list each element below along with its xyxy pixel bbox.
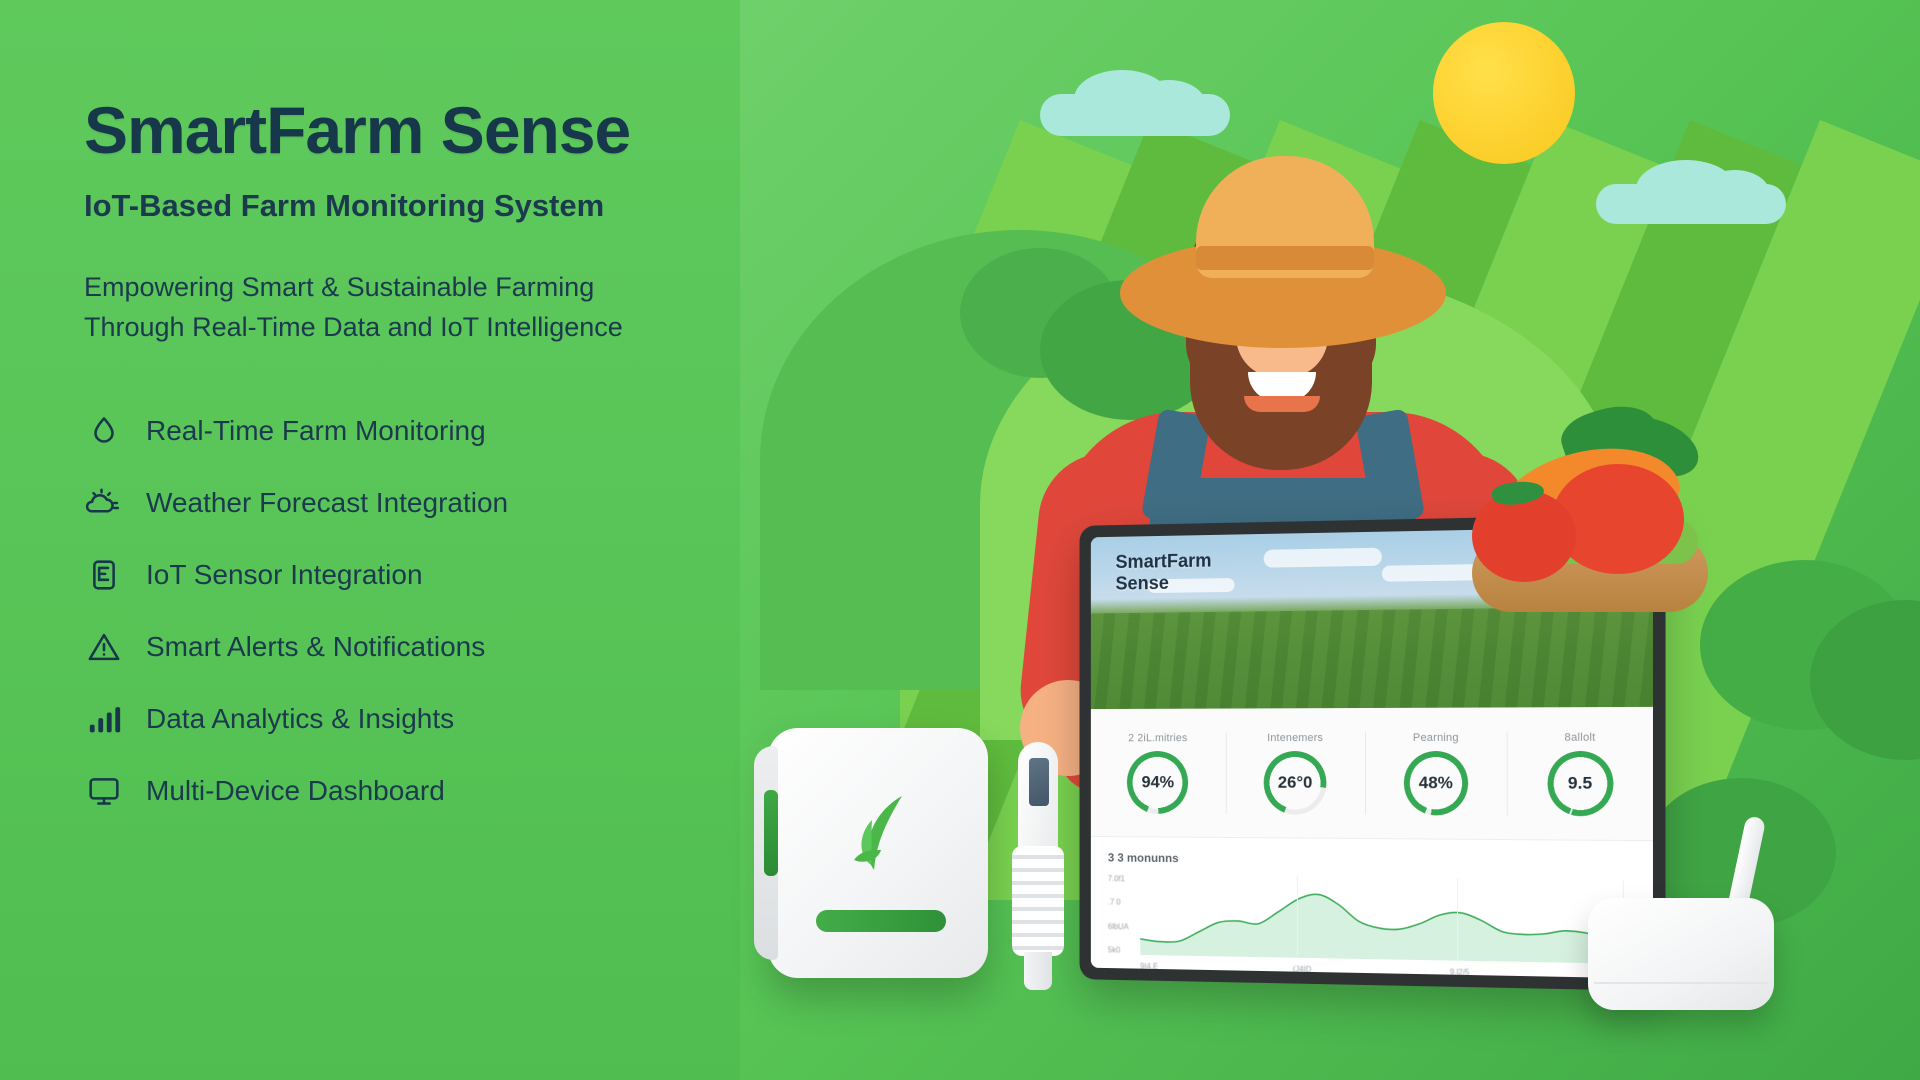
- feature-item-smart-alerts[interactable]: Smart Alerts & Notifications: [84, 611, 924, 683]
- trend-chart-panel[interactable]: 3 3 monunns 7.0f1 .7 0 6lbUA 5k0: [1091, 836, 1653, 979]
- feature-label: Smart Alerts & Notifications: [146, 631, 485, 663]
- sensor-chip-icon: [84, 555, 124, 595]
- chart-title: 3 3 monunns: [1108, 851, 1634, 870]
- metric-label: Pearning: [1413, 731, 1459, 743]
- y-tick: 6lbUA: [1108, 922, 1137, 931]
- metric-card[interactable]: 8allolt 9.5: [1508, 731, 1653, 816]
- page-subtitle: IoT-Based Farm Monitoring System: [84, 187, 924, 224]
- page-title: SmartFarm Sense: [84, 96, 924, 165]
- metric-ring: 94%: [1127, 751, 1188, 814]
- probe-display: [1029, 758, 1049, 806]
- feature-label: Data Analytics & Insights: [146, 703, 454, 735]
- warning-triangle-icon: [84, 627, 124, 667]
- tagline-line-2: Through Real-Time Data and IoT Intellige…: [84, 308, 924, 347]
- feature-label: Multi-Device Dashboard: [146, 775, 445, 807]
- y-tick: 5k0: [1108, 946, 1137, 955]
- metric-value: 48%: [1419, 773, 1453, 793]
- hero-copy: SmartFarm Sense IoT-Based Farm Monitorin…: [84, 96, 924, 827]
- feature-item-weather-forecast[interactable]: Weather Forecast Integration: [84, 467, 924, 539]
- y-tick: 7.0f1: [1108, 874, 1137, 883]
- chart-plot: [1140, 875, 1628, 964]
- metric-label: Intenemers: [1267, 732, 1323, 744]
- dashboard-brand-line-2: Sense: [1115, 572, 1211, 595]
- produce-group: [1430, 408, 1760, 658]
- metric-ring: 26°0: [1264, 751, 1327, 815]
- metric-row: 2 2iL.mitries 94% Intenemers 26°0: [1091, 707, 1653, 840]
- gateway-router-device[interactable]: [1588, 878, 1798, 1020]
- metric-value: 26°0: [1278, 772, 1312, 792]
- metric-label: 2 2iL.mitries: [1128, 732, 1187, 744]
- feature-item-iot-sensor[interactable]: IoT Sensor Integration: [84, 539, 924, 611]
- metric-card[interactable]: 2 2iL.mitries 94%: [1091, 732, 1227, 814]
- feature-label: Weather Forecast Integration: [146, 487, 508, 519]
- sensor-hub-device[interactable]: [768, 728, 988, 978]
- metric-ring: 48%: [1404, 750, 1468, 815]
- chart-x-axis: 9I4.E (J4ID 9.l2/5 1 15: [1140, 962, 1628, 979]
- dashboard-brand-line-1: SmartFarm: [1115, 551, 1211, 574]
- metric-card[interactable]: Intenemers 26°0: [1227, 731, 1366, 814]
- feature-label: Real-Time Farm Monitoring: [146, 415, 486, 447]
- x-tick: (J4ID: [1293, 965, 1312, 974]
- chart-area: 7.0f1 .7 0 6lbUA 5k0: [1108, 874, 1634, 964]
- sun-cloud-icon: [84, 483, 124, 523]
- leaf-logo: [826, 780, 936, 890]
- tomato-icon: [1472, 490, 1576, 582]
- feature-label: IoT Sensor Integration: [146, 559, 423, 591]
- feature-item-real-time-monitoring[interactable]: Real-Time Farm Monitoring: [84, 395, 924, 467]
- metric-label: 8allolt: [1565, 731, 1596, 743]
- tagline-line-1: Empowering Smart & Sustainable Farming: [84, 268, 924, 307]
- metric-value: 9.5: [1568, 773, 1592, 793]
- bar-chart-icon: [84, 699, 124, 739]
- chart-y-axis: 7.0f1 .7 0 6lbUA 5k0: [1108, 874, 1137, 955]
- metric-card[interactable]: Pearning 48%: [1365, 731, 1507, 815]
- y-tick: .7 0: [1108, 898, 1137, 907]
- x-tick: 9I4.E: [1140, 962, 1158, 971]
- trend-line: [1140, 875, 1628, 964]
- soil-probe-device[interactable]: [1010, 742, 1066, 990]
- poster-canvas: SmartFarm Sense IoT-Based Farm Monitorin…: [0, 0, 1920, 1080]
- dashboard-brand: SmartFarm Sense: [1115, 551, 1211, 595]
- metric-ring: 9.5: [1547, 750, 1613, 815]
- water-drop-icon: [84, 411, 124, 451]
- x-tick: 9.l2/5: [1450, 968, 1470, 977]
- monitor-icon: [84, 771, 124, 811]
- metric-value: 94%: [1142, 772, 1175, 792]
- tagline: Empowering Smart & Sustainable Farming T…: [84, 268, 924, 346]
